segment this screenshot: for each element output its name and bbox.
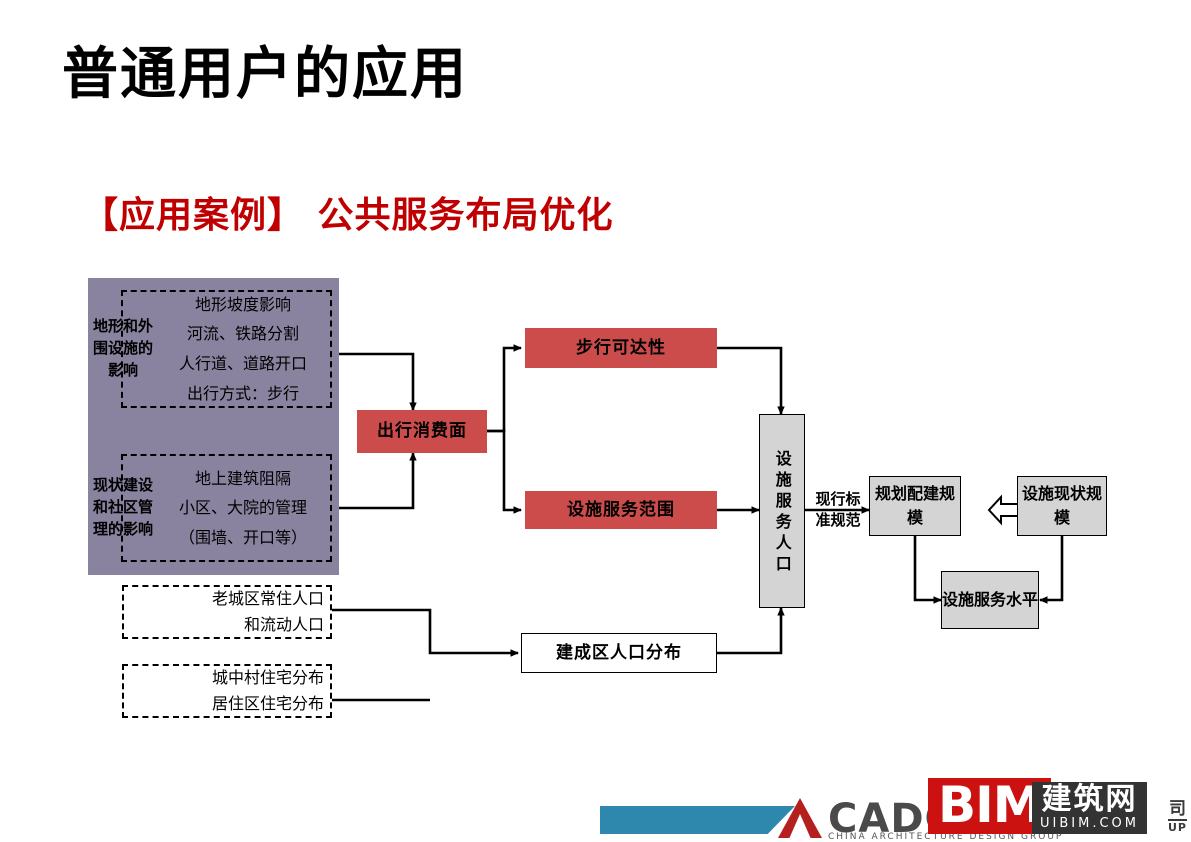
footer-branding: CADG CHINA ARCHITECTURE DESIGN GROUP BIM… xyxy=(0,760,1191,842)
purple-section-label-construction: 现状建设和社区管理的影响 xyxy=(92,454,154,562)
node-facility-service-population[interactable]: 设施服务人口 xyxy=(759,414,805,608)
purple-item: 小区、大院的管理 xyxy=(179,493,307,523)
population-line: 和流动人口 xyxy=(244,612,324,638)
population-line: 老城区常住人口 xyxy=(212,586,324,612)
cadg-mark-icon xyxy=(778,798,822,838)
group-cn-label: 司 xyxy=(1168,794,1187,819)
group-mark: 司 UP xyxy=(1168,794,1187,834)
node-service-range[interactable]: 设施服务范围 xyxy=(525,491,717,529)
purple-item: （围墙、开口等） xyxy=(179,523,307,553)
uibim-en-label: UIBIM.COM xyxy=(1040,817,1139,830)
node-current-scale[interactable]: 设施现状规模 xyxy=(1017,476,1107,536)
node-service-level[interactable]: 设施服务水平 xyxy=(941,571,1039,629)
node-built-area-population[interactable]: 建成区人口分布 xyxy=(521,633,717,673)
purple-section-items-terrain: 地形坡度影响 河流、铁路分割 人行道、道路开口 出行方式：步行 xyxy=(156,290,330,408)
flowchart-diagram: 地形和外围设施的影响 现状建设和社区管理的影响 地形坡度影响 河流、铁路分割 人… xyxy=(0,0,1191,842)
node-planned-scale[interactable]: 规划配建规模 xyxy=(869,476,961,536)
purple-item: 人行道、道路开口 xyxy=(179,349,307,379)
slide-root: 普通用户的应用 【应用案例】 公共服务布局优化 xyxy=(0,0,1191,842)
population-box-oldtown: 老城区常住人口 和流动人口 xyxy=(122,585,332,639)
purple-item: 出行方式：步行 xyxy=(187,379,299,409)
group-en-label: UP xyxy=(1168,819,1187,834)
population-line: 居住区住宅分布 xyxy=(212,691,324,717)
purple-section-label-terrain: 地形和外围设施的影响 xyxy=(92,290,154,408)
purple-item: 地上建筑阻隔 xyxy=(195,464,291,494)
node-walk-accessibility[interactable]: 步行可达性 xyxy=(525,328,717,368)
node-travel-cost[interactable]: 出行消费面 xyxy=(357,410,487,453)
purple-item: 河流、铁路分割 xyxy=(187,319,299,349)
uibim-cn-label: 建筑网 xyxy=(1040,785,1139,815)
uibim-logo: 建筑网 UIBIM.COM xyxy=(1032,782,1147,834)
purple-item: 地形坡度影响 xyxy=(195,290,291,320)
population-box-housing: 城中村住宅分布 居住区住宅分布 xyxy=(122,664,332,718)
label-current-standard: 现行标准规范 xyxy=(810,478,866,542)
swoosh-shape xyxy=(600,806,795,834)
purple-section-items-construction: 地上建筑阻隔 小区、大院的管理 （围墙、开口等） xyxy=(156,454,330,562)
population-line: 城中村住宅分布 xyxy=(212,665,324,691)
